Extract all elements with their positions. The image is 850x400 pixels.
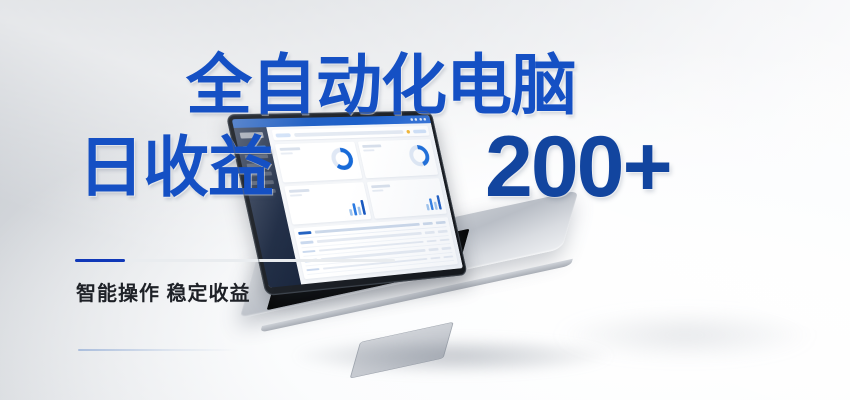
headline-line-1: 全自动化电脑 <box>186 52 576 118</box>
accent-divider <box>75 259 395 262</box>
bar-chart <box>346 198 365 216</box>
promo-banner: 全自动化电脑 日收益 200+ 智能操作 稳定收益 <box>0 0 850 400</box>
header-pill <box>413 129 427 133</box>
card-subtitle <box>280 152 293 154</box>
card-subtitle <box>363 149 375 151</box>
secondary-divider <box>78 349 238 351</box>
topbar-dots-icon <box>410 117 426 120</box>
sidebar-item <box>245 154 269 159</box>
data-table <box>293 217 458 279</box>
sidebar-item <box>252 189 276 194</box>
laptop-device <box>256 110 596 360</box>
sidebar-item <box>248 171 272 176</box>
header-pill <box>294 130 404 137</box>
stat-card <box>366 178 447 219</box>
sidebar-item <box>243 146 267 151</box>
stat-card <box>284 182 371 224</box>
card-subtitle <box>372 189 384 191</box>
laptop-drop-shadow <box>238 330 668 382</box>
header-pill <box>275 133 291 137</box>
card-title <box>371 184 390 188</box>
bar-chart <box>424 193 442 210</box>
stat-card <box>275 142 362 183</box>
sidebar-logo <box>240 132 264 138</box>
stat-card <box>357 139 438 178</box>
star-icon <box>406 129 410 133</box>
card-title <box>279 147 300 151</box>
sidebar-item <box>250 180 274 185</box>
card-title <box>289 189 310 193</box>
laptop-lid <box>226 111 468 296</box>
dashboard-cards <box>275 139 447 224</box>
accent-divider-segment <box>75 259 125 262</box>
donut-chart <box>407 145 431 167</box>
subtitle-text: 智能操作 稳定收益 <box>76 277 251 306</box>
card-title <box>362 144 381 147</box>
sidebar-item <box>246 163 270 168</box>
donut-chart <box>329 147 355 170</box>
card-subtitle <box>290 194 302 197</box>
dashboard-header-bar <box>272 126 430 141</box>
